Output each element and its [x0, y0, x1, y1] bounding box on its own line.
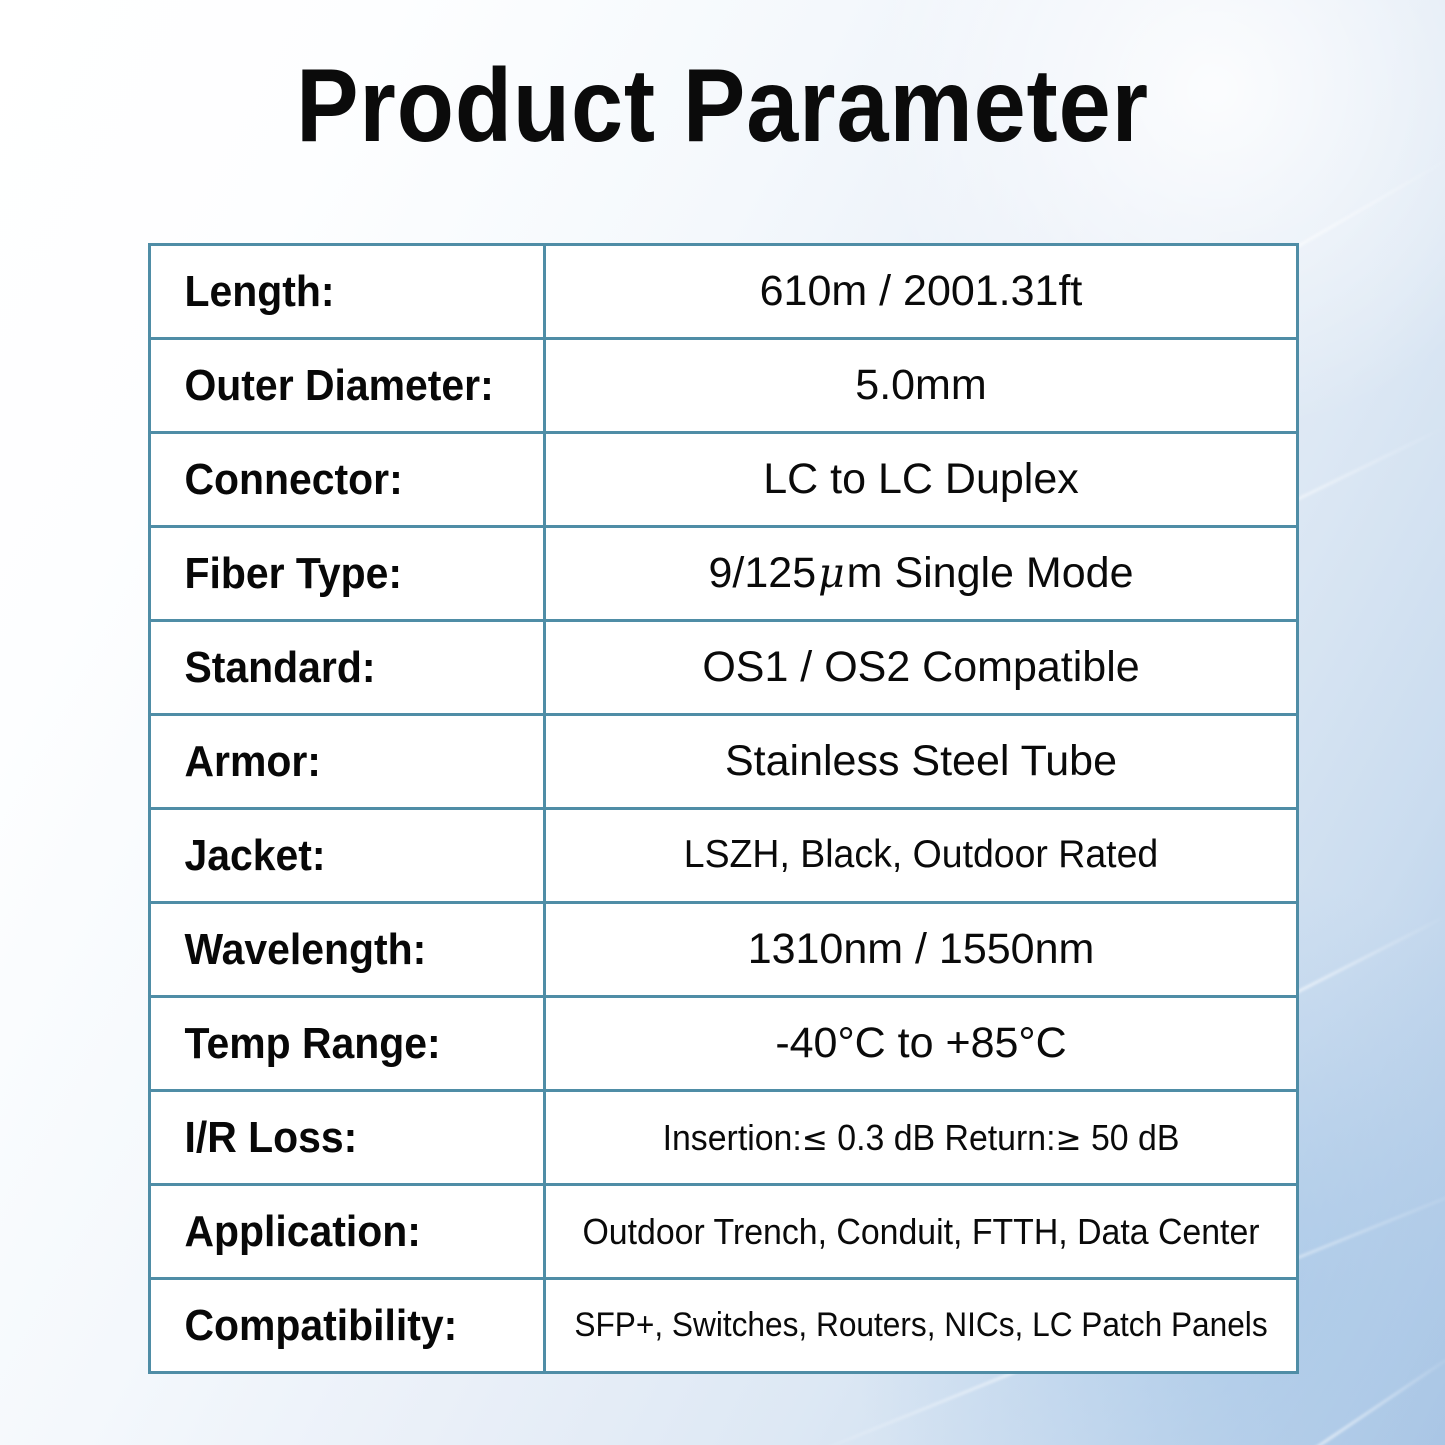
spec-value: 9/125μm Single Mode: [546, 551, 1296, 596]
spec-label: Application:: [151, 1210, 516, 1254]
spec-value: Outdoor Trench, Conduit, FTTH, Data Cent…: [569, 1213, 1274, 1251]
insertion-loss-label: Insertion:: [663, 1117, 802, 1158]
table-row: Compatibility: SFP+, Switches, Routers, …: [150, 1279, 1298, 1373]
spec-value: Insertion:≤ 0.3 dB Return:≥ 50 dB: [569, 1119, 1274, 1157]
spec-label: I/R Loss:: [151, 1116, 516, 1160]
spec-value-cell: -40°C to +85°C: [545, 997, 1298, 1091]
spec-value-cell: 1310nm / 1550nm: [545, 903, 1298, 997]
spec-value-cell: 610m / 2001.31ft: [545, 245, 1298, 339]
table-row: Standard: OS1 / OS2 Compatible: [150, 621, 1298, 715]
spec-value: 610m / 2001.31ft: [546, 269, 1296, 314]
greater-than-or-equal-icon: ≥: [1055, 1119, 1081, 1158]
spec-value-cell: OS1 / OS2 Compatible: [545, 621, 1298, 715]
spec-label: Compatibility:: [151, 1304, 516, 1348]
spec-label-cell: Length:: [150, 245, 545, 339]
spec-value: OS1 / OS2 Compatible: [546, 645, 1296, 690]
micro-symbol: μ: [816, 549, 847, 597]
table-row: Armor: Stainless Steel Tube: [150, 715, 1298, 809]
less-than-or-equal-icon: ≤: [802, 1119, 828, 1158]
spec-label: Outer Diameter:: [151, 364, 516, 408]
table-row: Outer Diameter: 5.0mm: [150, 339, 1298, 433]
spec-label-cell: I/R Loss:: [150, 1091, 545, 1185]
spec-label-cell: Connector:: [150, 433, 545, 527]
spec-label-cell: Armor:: [150, 715, 545, 809]
product-parameter-page: Product Parameter Length: 610m / 2001.31…: [0, 0, 1445, 1445]
page-title: Product Parameter: [72, 52, 1373, 161]
spec-value-cell: Insertion:≤ 0.3 dB Return:≥ 50 dB: [545, 1091, 1298, 1185]
table-row: Fiber Type: 9/125μm Single Mode: [150, 527, 1298, 621]
table-row: I/R Loss: Insertion:≤ 0.3 dB Return:≥ 50…: [150, 1091, 1298, 1185]
table-row: Wavelength: 1310nm / 1550nm: [150, 903, 1298, 997]
spec-value: LSZH, Black, Outdoor Rated: [561, 835, 1281, 876]
spec-value-cell: 5.0mm: [545, 339, 1298, 433]
spec-label-cell: Application:: [150, 1185, 545, 1279]
spec-label-cell: Wavelength:: [150, 903, 545, 997]
spec-value: 5.0mm: [546, 363, 1296, 408]
fiber-mode-text: m Single Mode: [847, 549, 1134, 597]
spec-value: SFP+, Switches, Routers, NICs, LC Patch …: [572, 1308, 1270, 1344]
table-row: Connector: LC to LC Duplex: [150, 433, 1298, 527]
spec-value-cell: LSZH, Black, Outdoor Rated: [545, 809, 1298, 903]
spec-value: -40°C to +85°C: [546, 1021, 1296, 1066]
spec-value: Stainless Steel Tube: [546, 739, 1296, 784]
spec-value-cell: Outdoor Trench, Conduit, FTTH, Data Cent…: [545, 1185, 1298, 1279]
spec-label: Temp Range:: [151, 1022, 516, 1066]
spec-label: Armor:: [151, 740, 516, 784]
insertion-loss-value: 0.3 dB Return:: [828, 1117, 1056, 1158]
spec-label: Connector:: [151, 458, 516, 502]
spec-label: Standard:: [151, 646, 516, 690]
spec-label: Length:: [151, 270, 516, 314]
product-parameter-table: Length: 610m / 2001.31ft Outer Diameter:…: [148, 243, 1299, 1374]
table-row: Jacket: LSZH, Black, Outdoor Rated: [150, 809, 1298, 903]
spec-value-cell: 9/125μm Single Mode: [545, 527, 1298, 621]
spec-label: Fiber Type:: [151, 552, 516, 596]
spec-label-cell: Temp Range:: [150, 997, 545, 1091]
spec-value: 1310nm / 1550nm: [546, 927, 1296, 972]
fiber-core-size: 9/125: [709, 549, 817, 597]
table-row: Temp Range: -40°C to +85°C: [150, 997, 1298, 1091]
spec-label: Wavelength:: [151, 928, 516, 972]
spec-value-cell: LC to LC Duplex: [545, 433, 1298, 527]
return-loss-value: 50 dB: [1082, 1117, 1180, 1158]
spec-value-cell: SFP+, Switches, Routers, NICs, LC Patch …: [545, 1279, 1298, 1373]
spec-label-cell: Jacket:: [150, 809, 545, 903]
spec-label-cell: Compatibility:: [150, 1279, 545, 1373]
spec-value-cell: Stainless Steel Tube: [545, 715, 1298, 809]
table-row: Application: Outdoor Trench, Conduit, FT…: [150, 1185, 1298, 1279]
spec-label-cell: Fiber Type:: [150, 527, 545, 621]
spec-value: LC to LC Duplex: [546, 457, 1296, 502]
spec-label: Jacket:: [151, 834, 516, 878]
spec-label-cell: Outer Diameter:: [150, 339, 545, 433]
spec-label-cell: Standard:: [150, 621, 545, 715]
table-row: Length: 610m / 2001.31ft: [150, 245, 1298, 339]
